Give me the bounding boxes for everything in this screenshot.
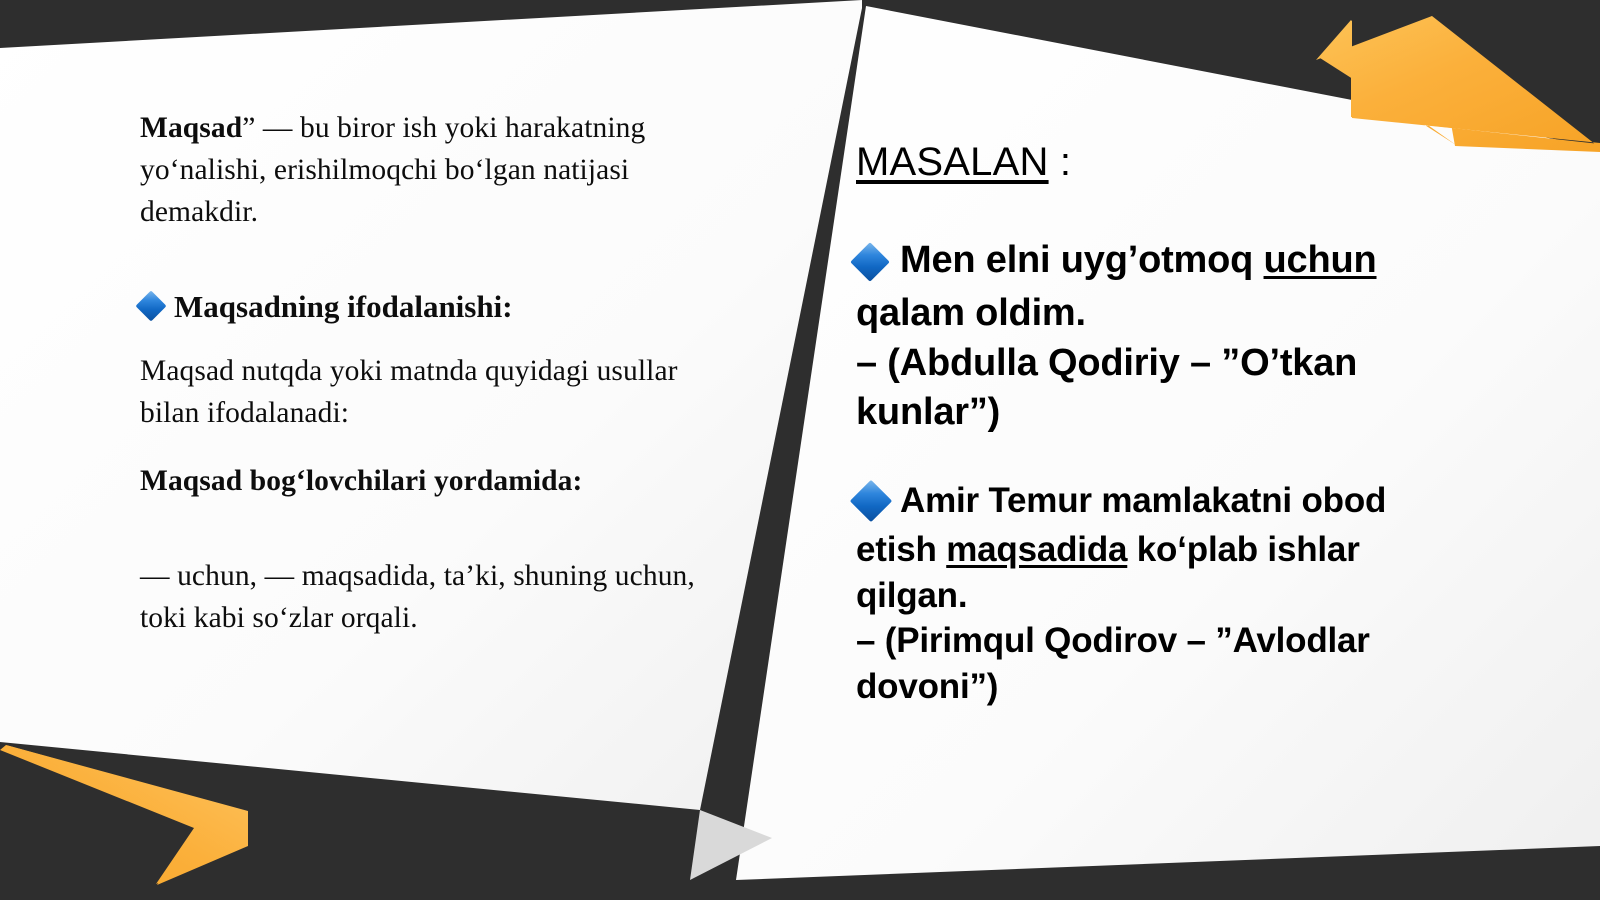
blue-diamond-bullet-icon bbox=[135, 291, 166, 322]
methods-paragraph: Maqsad nutqda yoki matnda quyidagi usull… bbox=[140, 351, 710, 435]
expression-heading-label: Maqsadning ifodalanishi: bbox=[174, 288, 513, 325]
slide-canvas: Maqsad” — bu biror ish yoki harakatning … bbox=[0, 0, 1600, 900]
definition-paragraph: Maqsad” — bu biror ish yoki harakatning … bbox=[140, 108, 710, 234]
right-text-column: MASALAN : Men elni uyg’otmoq uchun qalam… bbox=[856, 140, 1436, 749]
example-1-attribution: – (Abdulla Qodiriy – ”O’tkan kunlar”) bbox=[856, 342, 1357, 433]
blue-diamond-bullet-icon bbox=[856, 240, 890, 289]
example-item-2: Amir Temur mamlakatni obod etish maqsadi… bbox=[856, 478, 1436, 710]
left-text-column: Maqsad” — bu biror ish yoki harakatning … bbox=[140, 108, 710, 666]
blue-diamond-bullet-icon bbox=[856, 482, 890, 528]
example-1-text-before: Men elni uyg’otmoq bbox=[900, 239, 1264, 281]
example-2-keyword: maqsadida bbox=[946, 530, 1127, 569]
definition-lead-word: Maqsad bbox=[140, 112, 242, 144]
example-item-1: Men elni uyg’otmoq uchun qalam oldim.– (… bbox=[856, 236, 1436, 438]
conjunctions-heading: Maqsad bog‘lovchilari yordamida: bbox=[140, 461, 710, 503]
examples-title-word: MASALAN bbox=[856, 140, 1049, 184]
example-2-attribution: – (Pirimqul Qodirov – ”Avlodlar dovoni”) bbox=[856, 621, 1370, 706]
gray-triangle-icon bbox=[690, 810, 772, 880]
expression-heading-row: Maqsadning ifodalanishi: bbox=[140, 288, 710, 325]
example-1-keyword: uchun bbox=[1264, 239, 1377, 281]
conjunctions-list: — uchun, — maqsadida, ta’ki, shuning uch… bbox=[140, 556, 710, 640]
example-1-text-after: qalam oldim. bbox=[856, 292, 1086, 334]
examples-title: MASALAN : bbox=[856, 140, 1436, 184]
examples-title-suffix: : bbox=[1049, 140, 1072, 184]
